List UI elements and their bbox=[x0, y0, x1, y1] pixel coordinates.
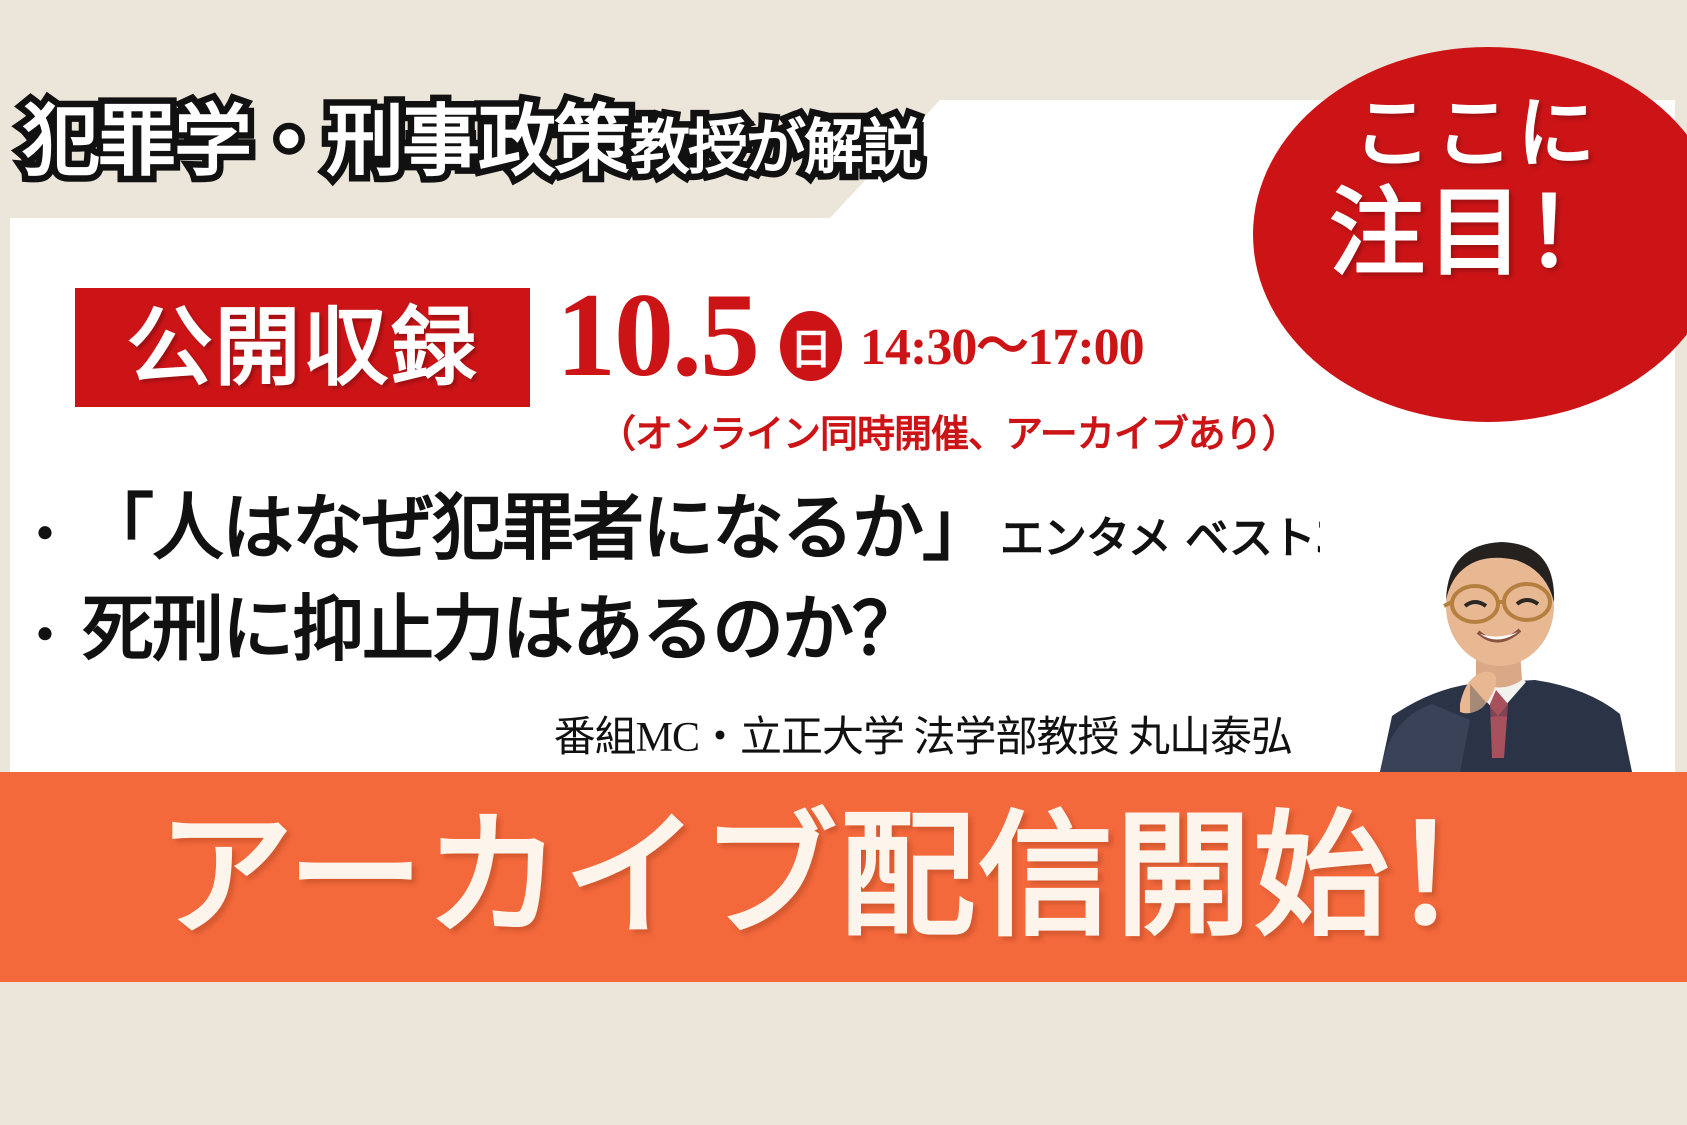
presenter-photo bbox=[1320, 508, 1675, 772]
day-of-week-badge: 日 bbox=[780, 311, 842, 381]
topic-item: ・ 死刑に抑止力はあるのか？ bbox=[18, 587, 1378, 672]
archive-banner: アーカイブ配信開始！ bbox=[0, 772, 1687, 982]
left-edge-strip bbox=[0, 218, 10, 772]
topic-title: 死刑に抑止力はあるのか？ bbox=[82, 587, 922, 672]
presenter-credit: 番組MC・立正大学 法学部教授 丸山泰弘 bbox=[554, 703, 1292, 764]
recording-badge: 公開収録 bbox=[75, 288, 530, 407]
event-date: 10.5 bbox=[556, 275, 758, 395]
topic-item: ・ 「人はなぜ犯罪者になるか」 エンタメ ベスト3 bbox=[18, 486, 1378, 571]
topic-list: ・ 「人はなぜ犯罪者になるか」 エンタメ ベスト3 ・ 死刑に抑止力はあるのか？ bbox=[18, 486, 1378, 672]
topic-title: 「人はなぜ犯罪者になるか」 bbox=[82, 486, 992, 571]
recording-badge-label: 公開収録 bbox=[127, 305, 479, 391]
bullet-dot-icon: ・ bbox=[18, 508, 72, 562]
header-title-sub: 教授が解説 bbox=[630, 113, 920, 183]
attention-badge-text: ここに 注目！ bbox=[1311, 95, 1641, 282]
poster-root: 犯罪学・刑事政策教授が解説 ここに 注目！ 公開収録 10.5 日 14:30〜… bbox=[0, 0, 1687, 1125]
attention-line-1: ここに bbox=[1311, 95, 1641, 175]
event-note: （オンライン同時開催、アーカイブあり） bbox=[598, 403, 1299, 458]
header-title-main: 犯罪学・刑事政策 bbox=[22, 97, 630, 187]
bottom-background-strip bbox=[0, 982, 1687, 1125]
header-title: 犯罪学・刑事政策教授が解説 bbox=[22, 103, 920, 181]
archive-banner-text: アーカイブ配信開始！ bbox=[158, 809, 1530, 945]
presenter-portrait-illustration bbox=[1320, 508, 1675, 772]
event-date-row: 10.5 日 14:30〜17:00 bbox=[556, 275, 1144, 395]
bullet-dot-icon: ・ bbox=[18, 609, 72, 663]
topic-subtitle: エンタメ ベスト3 bbox=[1000, 502, 1345, 566]
event-time-range: 14:30〜17:00 bbox=[860, 304, 1144, 379]
attention-line-2: 注目！ bbox=[1311, 185, 1641, 283]
